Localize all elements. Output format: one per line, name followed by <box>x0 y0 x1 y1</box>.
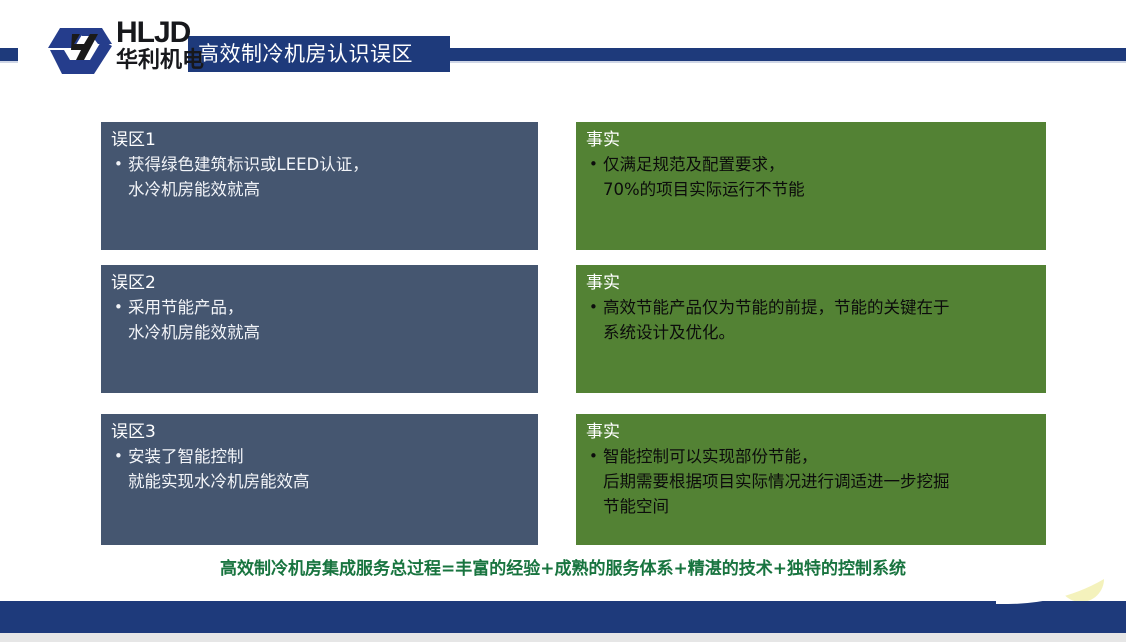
logo-wordmark: HLJD 华利机电 <box>116 16 192 78</box>
company-logo: HLJD 华利机电 <box>18 16 188 78</box>
myth-card-1-bullet: • 获得绿色建筑标识或LEED认证， 水冷机房能效就高 <box>111 152 528 202</box>
fact-card-1-bullet: • 仅满足规范及配置要求， 70%的项目实际运行不节能 <box>586 152 1036 202</box>
fact-card-1: 事实 • 仅满足规范及配置要求， 70%的项目实际运行不节能 <box>576 122 1046 250</box>
myth-card-1-heading: 误区1 <box>111 130 528 151</box>
fact-card-1-text: 仅满足规范及配置要求， 70%的项目实际运行不节能 <box>603 152 1036 202</box>
fact-card-2-heading: 事实 <box>586 273 1036 294</box>
page-title: 高效制冷机房认识误区 <box>198 40 413 68</box>
bullet-dot-icon: • <box>111 295 128 320</box>
content-grid: 误区1 • 获得绿色建筑标识或LEED认证， 水冷机房能效就高 事实 • 仅满足… <box>0 0 1126 642</box>
fact-card-3-heading: 事实 <box>586 422 1036 443</box>
myth-card-3-heading: 误区3 <box>111 422 528 443</box>
myth-card-1-text: 获得绿色建筑标识或LEED认证， 水冷机房能效就高 <box>128 152 528 202</box>
footer-band <box>0 601 1126 633</box>
myth-card-2-bullet: • 采用节能产品， 水冷机房能效就高 <box>111 295 528 345</box>
slide-title-banner: 高效制冷机房认识误区 <box>186 36 450 72</box>
myth-card-2-heading: 误区2 <box>111 273 528 294</box>
summary-slogan: 高效制冷机房集成服务总过程=丰富的经验+成熟的服务体系+精湛的技术+独特的控制系… <box>0 556 1126 582</box>
myth-card-1: 误区1 • 获得绿色建筑标识或LEED认证， 水冷机房能效就高 <box>101 122 538 250</box>
myth-card-3-bullet: • 安装了智能控制 就能实现水冷机房能效高 <box>111 444 528 494</box>
fact-card-2-bullet: • 高效节能产品仅为节能的前提，节能的关键在于 系统设计及优化。 <box>586 295 1036 345</box>
logo-chinese-text: 华利机电 <box>116 48 204 74</box>
myth-card-3: 误区3 • 安装了智能控制 就能实现水冷机房能效高 <box>101 414 538 545</box>
fact-card-1-heading: 事实 <box>586 130 1036 151</box>
bullet-dot-icon: • <box>586 295 603 320</box>
fact-card-2-text: 高效节能产品仅为节能的前提，节能的关键在于 系统设计及优化。 <box>603 295 1036 345</box>
bottom-strip <box>0 633 1126 642</box>
bullet-dot-icon: • <box>586 444 603 469</box>
myth-card-3-text: 安装了智能控制 就能实现水冷机房能效高 <box>128 444 528 494</box>
myth-card-2-text: 采用节能产品， 水冷机房能效就高 <box>128 295 528 345</box>
fact-card-3-bullet: • 智能控制可以实现部份节能， 后期需要根据项目实际情况进行调适进一步挖掘 节能… <box>586 444 1036 519</box>
fact-card-3-text: 智能控制可以实现部份节能， 后期需要根据项目实际情况进行调适进一步挖掘 节能空间 <box>603 444 1036 519</box>
fact-card-3: 事实 • 智能控制可以实现部份节能， 后期需要根据项目实际情况进行调适进一步挖掘… <box>576 414 1046 545</box>
bullet-dot-icon: • <box>111 444 128 469</box>
fact-card-2: 事实 • 高效节能产品仅为节能的前提，节能的关键在于 系统设计及优化。 <box>576 265 1046 393</box>
hljd-monogram-icon <box>46 20 114 76</box>
bullet-dot-icon: • <box>111 152 128 177</box>
bullet-dot-icon: • <box>586 152 603 177</box>
slide-canvas: HLJD 华利机电 高效制冷机房认识误区 误区1 • 获得绿色建筑标识或LEED… <box>0 0 1126 642</box>
logo-latin-text: HLJD <box>116 17 190 49</box>
myth-card-2: 误区2 • 采用节能产品， 水冷机房能效就高 <box>101 265 538 393</box>
